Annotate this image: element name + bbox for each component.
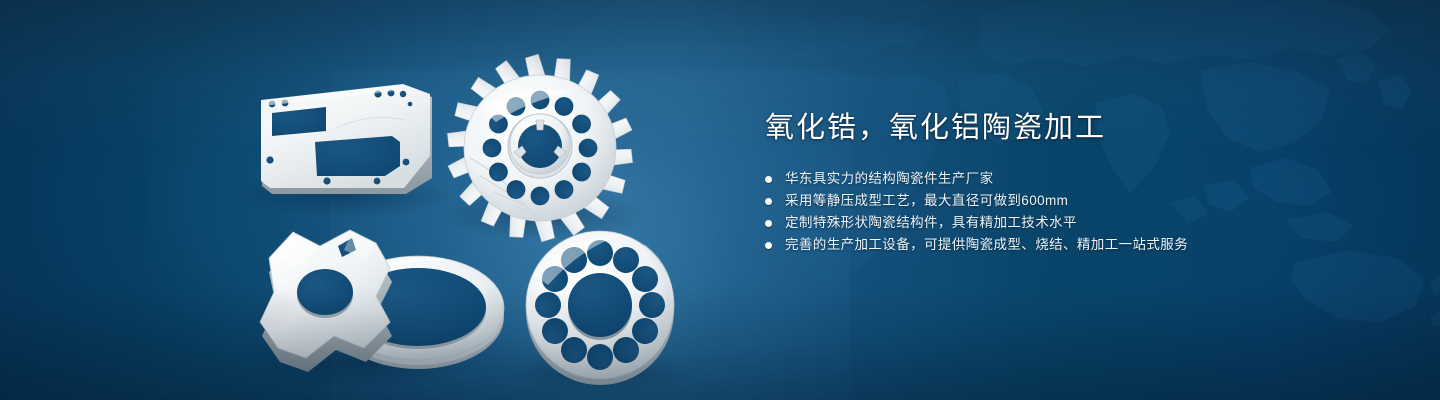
- list-item: 华东具实力的结构陶瓷件生产厂家: [765, 168, 1325, 190]
- banner-text-column: 氧化锆，氧化铝陶瓷加工 华东具实力的结构陶瓷件生产厂家 采用等静压成型工艺，最大…: [765, 108, 1325, 256]
- list-item-label: 采用等静压成型工艺，最大直径可做到600mm: [785, 190, 1068, 212]
- list-item-label: 华东具实力的结构陶瓷件生产厂家: [785, 168, 994, 190]
- bullet-dot-icon: [765, 176, 772, 183]
- bullet-dot-icon: [765, 220, 772, 227]
- list-item-label: 完善的生产加工设备，可提供陶瓷成型、烧结、精加工一站式服务: [785, 234, 1188, 256]
- page-title: 氧化锆，氧化铝陶瓷加工: [765, 108, 1325, 148]
- list-item: 完善的生产加工设备，可提供陶瓷成型、烧结、精加工一站式服务: [765, 234, 1325, 256]
- feature-list: 华东具实力的结构陶瓷件生产厂家 采用等静压成型工艺，最大直径可做到600mm 定…: [765, 168, 1325, 256]
- list-item: 采用等静压成型工艺，最大直径可做到600mm: [765, 190, 1325, 212]
- hero-banner: 氧化锆，氧化铝陶瓷加工 华东具实力的结构陶瓷件生产厂家 采用等静压成型工艺，最大…: [0, 0, 1440, 400]
- list-item: 定制特殊形状陶瓷结构件，具有精加工技术水平: [765, 212, 1325, 234]
- list-item-label: 定制特殊形状陶瓷结构件，具有精加工技术水平: [785, 212, 1077, 234]
- bullet-dot-icon: [765, 198, 772, 205]
- bullet-dot-icon: [765, 242, 772, 249]
